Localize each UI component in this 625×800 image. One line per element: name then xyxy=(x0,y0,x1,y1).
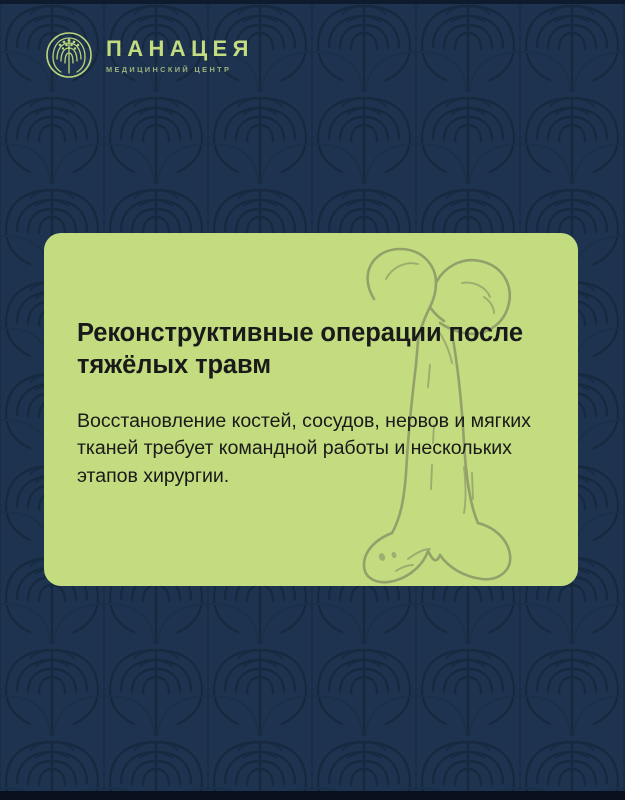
brand-text-block: ПАНАЦЕЯ МЕДИЦИНСКИЙ ЦЕНТР xyxy=(106,36,254,73)
page-title: Реконструктивные операции после тяжёлых … xyxy=(77,317,537,382)
brand-name: ПАНАЦЕЯ xyxy=(106,38,254,60)
card-text-block: Реконструктивные операции после тяжёлых … xyxy=(77,317,537,491)
tree-circle-emblem-icon xyxy=(44,30,94,80)
card-description: Восстановление костей, сосудов, нервов и… xyxy=(77,408,537,491)
poster: ПАНАЦЕЯ МЕДИЦИНСКИЙ ЦЕНТР xyxy=(0,0,625,800)
top-edge-bar xyxy=(0,0,625,4)
bottom-edge-bar xyxy=(0,791,625,800)
content-card: Реконструктивные операции после тяжёлых … xyxy=(44,233,578,586)
brand-lockup: ПАНАЦЕЯ МЕДИЦИНСКИЙ ЦЕНТР xyxy=(44,30,254,80)
brand-subtitle: МЕДИЦИНСКИЙ ЦЕНТР xyxy=(106,66,254,73)
